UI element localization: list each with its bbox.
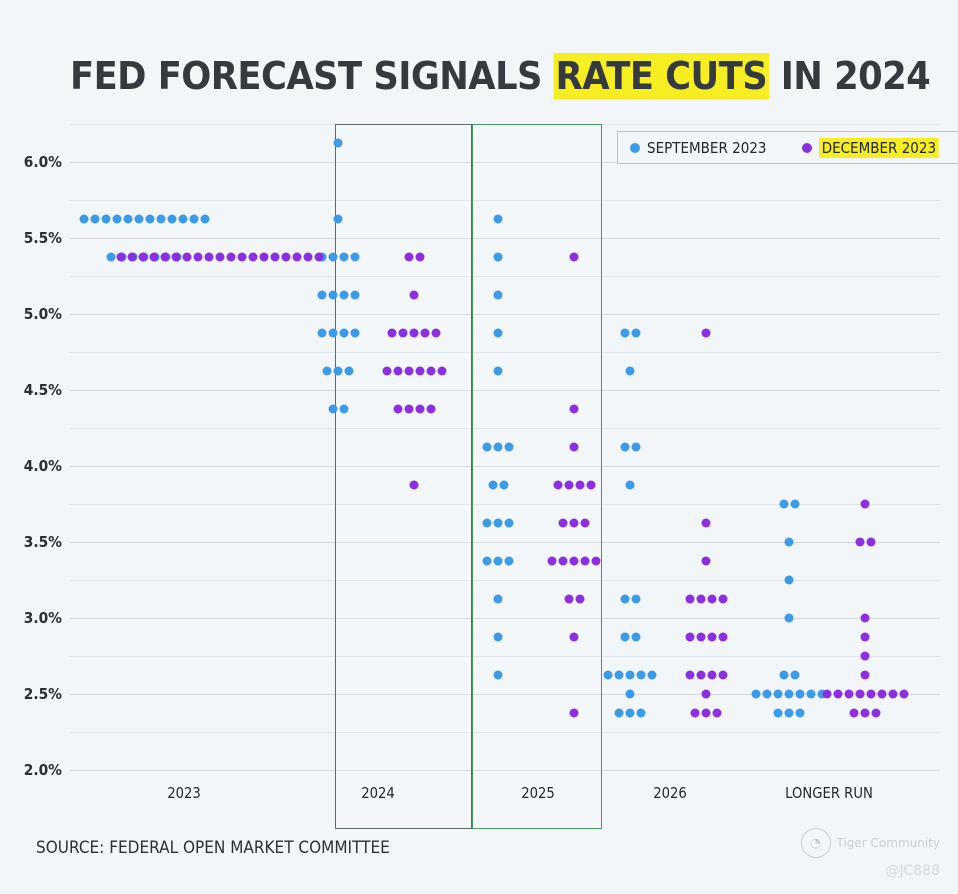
data-dot (779, 500, 788, 509)
data-dot (707, 595, 716, 604)
x-axis-tick-label: 2025 (521, 784, 555, 802)
data-dot (707, 671, 716, 680)
data-dot (763, 690, 772, 699)
data-dot (631, 633, 640, 642)
data-dot (707, 633, 716, 642)
data-dot (559, 519, 568, 528)
data-dot (494, 633, 503, 642)
y-axis-tick-label: 3.5% (5, 533, 62, 551)
data-dot (774, 709, 783, 718)
data-dot (615, 671, 624, 680)
data-dot (702, 709, 711, 718)
data-dot (785, 538, 794, 547)
y-axis-tick-label: 4.0% (5, 457, 62, 475)
data-dot (648, 671, 657, 680)
watermark: ◔ Tiger Community @JC888 (801, 828, 941, 879)
data-dot (183, 253, 192, 262)
data-dot (304, 253, 313, 262)
data-dot (548, 557, 557, 566)
data-dot (494, 595, 503, 604)
data-dot (855, 690, 864, 699)
data-dot (101, 215, 110, 224)
data-dot (315, 253, 324, 262)
x-axis-tick-label: 2023 (167, 784, 201, 802)
data-dot (796, 690, 805, 699)
data-dot (410, 291, 419, 300)
data-dot (317, 329, 326, 338)
data-dot (774, 690, 783, 699)
data-dot (494, 557, 503, 566)
data-dot (483, 443, 492, 452)
data-dot (393, 367, 402, 376)
data-dot (393, 405, 402, 414)
title-text-after: IN 2024 (769, 54, 930, 98)
highlight-box-2025 (472, 124, 602, 829)
data-dot (334, 139, 343, 148)
dot-plot-chart: 6.0%5.5%5.0%4.5%4.0%3.5%3.0%2.5%2.0% 202… (70, 124, 940, 770)
chart-legend: SEPTEMBER 2023DECEMBER 2023 (617, 131, 958, 164)
data-dot (334, 367, 343, 376)
title-text-before: FED FORECAST SIGNALS (70, 54, 554, 98)
data-dot (559, 557, 568, 566)
data-dot (790, 500, 799, 509)
data-dot (494, 519, 503, 528)
data-dot (415, 367, 424, 376)
data-dot (702, 329, 711, 338)
data-dot (112, 215, 121, 224)
data-dot (785, 690, 794, 699)
data-dot (90, 215, 99, 224)
data-dot (620, 443, 629, 452)
data-dot (696, 633, 705, 642)
data-dot (626, 709, 635, 718)
y-axis-tick-label: 4.5% (5, 381, 62, 399)
data-dot (404, 253, 413, 262)
data-dot (339, 253, 348, 262)
data-dot (339, 291, 348, 300)
data-dot (189, 215, 198, 224)
tiger-logo-icon: ◔ (801, 828, 831, 858)
data-dot (713, 709, 722, 718)
data-dot (718, 595, 727, 604)
data-dot (437, 367, 446, 376)
data-dot (604, 671, 613, 680)
legend-label: DECEMBER 2023 (819, 138, 939, 158)
data-dot (866, 690, 875, 699)
data-dot (626, 690, 635, 699)
x-axis-tick-label: 2026 (653, 784, 687, 802)
data-dot (872, 709, 881, 718)
legend-item[interactable]: SEPTEMBER 2023 (630, 139, 780, 157)
data-dot (626, 367, 635, 376)
data-dot (570, 519, 579, 528)
data-dot (123, 215, 132, 224)
data-dot (161, 253, 170, 262)
data-dot (494, 291, 503, 300)
data-dot (483, 519, 492, 528)
data-dot (631, 329, 640, 338)
data-dot (752, 690, 761, 699)
data-dot (205, 253, 214, 262)
legend-item[interactable]: DECEMBER 2023 (802, 138, 952, 158)
data-dot (178, 215, 187, 224)
data-dot (796, 709, 805, 718)
data-dot (620, 633, 629, 642)
data-dot (339, 405, 348, 414)
y-axis-tick-label: 6.0% (5, 153, 62, 171)
data-dot (410, 329, 419, 338)
data-dot (822, 690, 831, 699)
x-axis-tick-label: LONGER RUN (785, 784, 873, 802)
data-dot (238, 253, 247, 262)
data-dot (145, 215, 154, 224)
data-dot (691, 709, 700, 718)
source-note: SOURCE: FEDERAL OPEN MARKET COMMITTEE (36, 838, 390, 858)
data-dot (194, 253, 203, 262)
data-dot (570, 633, 579, 642)
data-dot (790, 671, 799, 680)
data-dot (570, 405, 579, 414)
data-dot (570, 253, 579, 262)
data-dot (620, 595, 629, 604)
data-dot (139, 253, 148, 262)
data-dot (426, 405, 435, 414)
data-dot (718, 671, 727, 680)
data-dot (861, 500, 870, 509)
data-dot (637, 709, 646, 718)
data-dot (581, 519, 590, 528)
data-dot (833, 690, 842, 699)
data-dot (861, 633, 870, 642)
data-dot (488, 481, 497, 490)
data-dot (494, 215, 503, 224)
data-dot (421, 329, 430, 338)
data-dot (785, 576, 794, 585)
data-dot (553, 481, 562, 490)
legend-color-dot (630, 143, 640, 153)
data-dot (855, 538, 864, 547)
data-dot (494, 367, 503, 376)
data-dot (339, 329, 348, 338)
data-dot (494, 253, 503, 262)
data-dot (861, 652, 870, 661)
data-dot (432, 329, 441, 338)
data-dot (592, 557, 601, 566)
data-dot (844, 690, 853, 699)
data-dot (499, 481, 508, 490)
watermark-top: ◔ Tiger Community (801, 828, 941, 858)
data-dot (388, 329, 397, 338)
data-dot (382, 367, 391, 376)
data-dot (494, 443, 503, 452)
data-dot (631, 443, 640, 452)
data-dot (128, 253, 137, 262)
watermark-name: Tiger Community (837, 836, 941, 850)
data-dot (570, 709, 579, 718)
data-dot (415, 253, 424, 262)
data-dot (334, 215, 343, 224)
data-dot (570, 443, 579, 452)
data-dot (156, 215, 165, 224)
watermark-handle: @JC888 (801, 863, 941, 879)
data-dot (575, 595, 584, 604)
title-highlight: RATE CUTS (554, 53, 769, 99)
data-dot (505, 557, 514, 566)
data-dot (117, 253, 126, 262)
y-axis-tick-label: 5.5% (5, 229, 62, 247)
data-dot (328, 329, 337, 338)
legend-color-dot (802, 143, 812, 153)
data-dot (861, 709, 870, 718)
data-dot (718, 633, 727, 642)
data-dot (581, 557, 590, 566)
data-dot (685, 595, 694, 604)
data-dot (575, 481, 584, 490)
data-dot (702, 557, 711, 566)
data-dot (410, 481, 419, 490)
data-dot (271, 253, 280, 262)
data-dot (483, 557, 492, 566)
highlight-box-2024 (335, 124, 472, 829)
data-dot (586, 481, 595, 490)
data-dot (216, 253, 225, 262)
data-dot (260, 253, 269, 262)
data-dot (505, 443, 514, 452)
y-axis-tick-label: 2.0% (5, 761, 62, 779)
data-dot (404, 405, 413, 414)
data-dot (785, 614, 794, 623)
data-dot (564, 595, 573, 604)
data-dot (685, 671, 694, 680)
data-dot (702, 690, 711, 699)
legend-label: SEPTEMBER 2023 (647, 139, 766, 157)
data-dot (494, 329, 503, 338)
data-dot (345, 367, 354, 376)
data-dot (426, 367, 435, 376)
data-dot (282, 253, 291, 262)
y-axis-tick-label: 3.0% (5, 609, 62, 627)
data-dot (696, 595, 705, 604)
data-dot (328, 405, 337, 414)
data-dot (626, 671, 635, 680)
data-dot (570, 557, 579, 566)
data-dot (631, 595, 640, 604)
y-axis-tick-label: 2.5% (5, 685, 62, 703)
data-dot (615, 709, 624, 718)
data-dot (888, 690, 897, 699)
data-dot (293, 253, 302, 262)
data-dot (779, 671, 788, 680)
data-dot (404, 367, 413, 376)
data-dot (626, 481, 635, 490)
data-dot (227, 253, 236, 262)
data-dot (637, 671, 646, 680)
data-dot (350, 329, 359, 338)
data-dot (167, 215, 176, 224)
data-dot (323, 367, 332, 376)
data-dot (107, 253, 116, 262)
data-dot (200, 215, 209, 224)
data-dot (861, 614, 870, 623)
data-dot (620, 329, 629, 338)
data-dot (249, 253, 258, 262)
data-dot (785, 709, 794, 718)
data-dot (317, 291, 326, 300)
data-dot (494, 671, 503, 680)
data-dot (807, 690, 816, 699)
data-dot (696, 671, 705, 680)
data-dot (866, 538, 875, 547)
data-dot (702, 519, 711, 528)
data-dot (877, 690, 886, 699)
data-dot (399, 329, 408, 338)
data-dot (328, 253, 337, 262)
page-title: FED FORECAST SIGNALS RATE CUTS IN 2024 (70, 50, 870, 102)
data-dot (850, 709, 859, 718)
data-dot (150, 253, 159, 262)
data-dot (505, 519, 514, 528)
y-axis-tick-label: 5.0% (5, 305, 62, 323)
data-dot (350, 253, 359, 262)
data-dot (328, 291, 337, 300)
data-dot (134, 215, 143, 224)
data-dot (899, 690, 908, 699)
x-axis-tick-label: 2024 (361, 784, 395, 802)
data-dot (564, 481, 573, 490)
data-dot (415, 405, 424, 414)
data-dot (350, 291, 359, 300)
data-dot (861, 671, 870, 680)
data-dot (79, 215, 88, 224)
data-dot (685, 633, 694, 642)
data-dot (172, 253, 181, 262)
